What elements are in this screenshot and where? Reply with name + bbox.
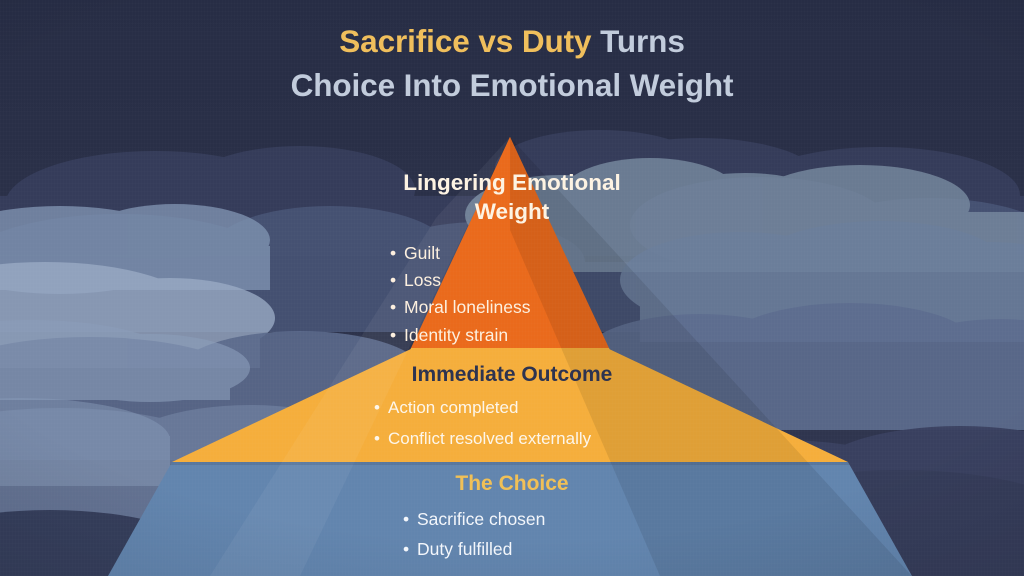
list-item: •Guilt	[390, 240, 642, 267]
bullet-text: Sacrifice chosen	[417, 504, 545, 534]
page-title: Sacrifice vs Duty Turns Choice Into Emot…	[0, 26, 1024, 101]
bullet-text: Conflict resolved externally	[388, 424, 591, 455]
list-item: •Identity strain	[390, 322, 642, 349]
tier-bottom-content: The Choice •Sacrifice chosen •Duty fulfi…	[0, 471, 1024, 564]
tier-top-heading: Lingering Emotional Weight	[382, 168, 642, 227]
bullet-text: Action completed	[388, 393, 518, 424]
bullet-dot-icon: •	[374, 424, 380, 455]
bullet-dot-icon: •	[390, 240, 396, 267]
bullet-dot-icon: •	[403, 534, 409, 564]
bullet-dot-icon: •	[390, 322, 396, 349]
list-item: •Moral loneliness	[390, 294, 642, 321]
tier-middle-heading: Immediate Outcome	[0, 362, 1024, 387]
bullet-dot-icon: •	[390, 294, 396, 321]
bullet-text: Moral loneliness	[404, 294, 530, 321]
bullet-dot-icon: •	[374, 393, 380, 424]
title-line-1: Sacrifice vs Duty Turns	[0, 26, 1024, 58]
tier-middle-bullet-list: •Action completed •Conflict resolved ext…	[362, 393, 662, 454]
list-item: •Loss	[390, 267, 642, 294]
bullet-text: Loss	[404, 267, 441, 294]
bullet-text: Duty fulfilled	[417, 534, 512, 564]
list-item: •Conflict resolved externally	[374, 424, 662, 455]
bullet-dot-icon: •	[403, 504, 409, 534]
title-accent-text: Sacrifice vs Duty	[339, 23, 591, 59]
infographic-canvas: Sacrifice vs Duty Turns Choice Into Emot…	[0, 0, 1024, 576]
text-layer: Sacrifice vs Duty Turns Choice Into Emot…	[0, 0, 1024, 576]
title-line-2: Choice Into Emotional Weight	[0, 70, 1024, 102]
tier-bottom-bullet-list: •Sacrifice chosen •Duty fulfilled	[397, 504, 627, 564]
tier-bottom-heading: The Choice	[0, 471, 1024, 496]
title-neutral-text: Turns	[591, 23, 684, 59]
bullet-dot-icon: •	[390, 267, 396, 294]
list-item: •Sacrifice chosen	[403, 504, 627, 534]
bullet-text: Identity strain	[404, 322, 508, 349]
list-item: •Action completed	[374, 393, 662, 424]
tier-top-bullet-list: •Guilt •Loss •Moral loneliness •Identity…	[382, 240, 642, 350]
bullet-text: Guilt	[404, 240, 440, 267]
tier-top-content: Lingering Emotional Weight •Guilt •Loss …	[0, 168, 1024, 349]
list-item: •Duty fulfilled	[403, 534, 627, 564]
tier-middle-content: Immediate Outcome •Action completed •Con…	[0, 362, 1024, 454]
